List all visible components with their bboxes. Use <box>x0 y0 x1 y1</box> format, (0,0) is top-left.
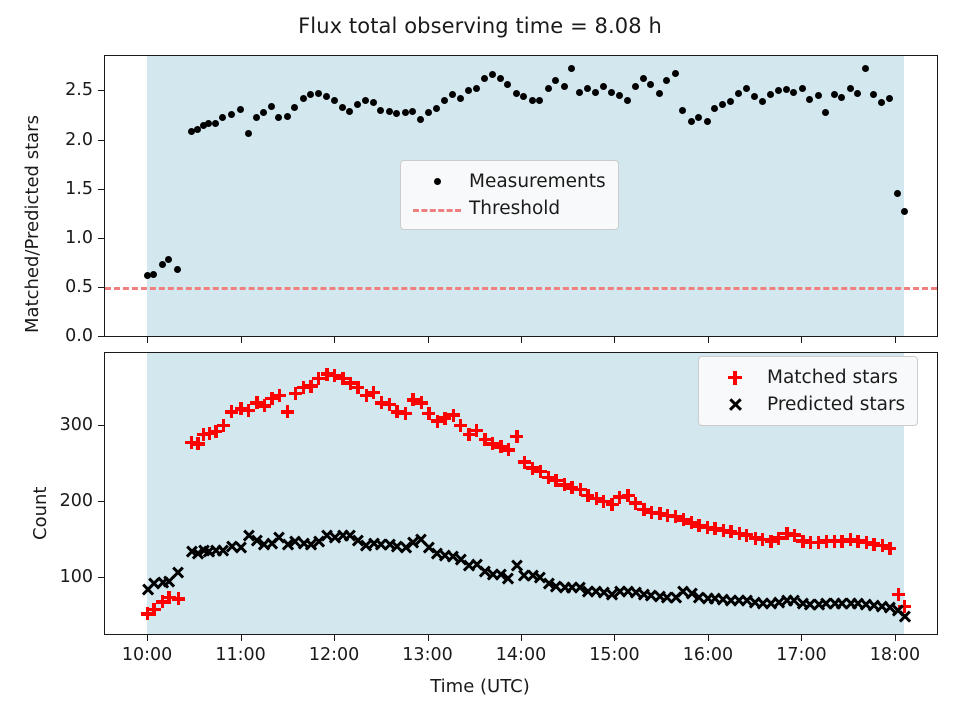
data-point <box>767 91 774 98</box>
data-point <box>362 97 369 104</box>
data-point <box>256 402 257 403</box>
data-point <box>178 598 179 599</box>
data-point <box>739 600 740 601</box>
data-point <box>775 87 782 94</box>
data-point <box>386 108 393 115</box>
data-point <box>656 90 663 97</box>
data-point <box>389 544 390 545</box>
y-tick-label: 300 <box>60 415 93 435</box>
data-point <box>159 261 166 268</box>
data-point <box>444 555 445 556</box>
top-y-axis-label: Matched/Predicted stars <box>22 115 43 333</box>
data-point <box>287 411 288 412</box>
data-point <box>476 430 477 431</box>
data-point <box>334 375 335 376</box>
data-point <box>699 525 700 526</box>
data-point <box>421 539 422 540</box>
data-point <box>898 594 899 595</box>
data-point <box>397 411 398 412</box>
data-point <box>381 544 382 545</box>
data-point <box>603 592 604 593</box>
data-point <box>802 604 803 605</box>
data-point <box>762 539 763 540</box>
data-point <box>873 544 874 545</box>
data-point <box>571 487 572 488</box>
data-point <box>762 603 763 604</box>
data-point <box>743 85 750 92</box>
data-point <box>366 395 367 396</box>
data-point <box>295 541 296 542</box>
data-point <box>866 604 867 605</box>
data-point <box>162 601 163 602</box>
data-point <box>628 495 629 496</box>
data-point <box>810 604 811 605</box>
data-point <box>532 576 533 577</box>
data-point <box>587 495 588 496</box>
data-point <box>556 480 557 481</box>
x-tick <box>241 336 242 343</box>
x-tick <box>614 634 615 641</box>
data-point <box>624 97 631 104</box>
data-point <box>548 583 549 584</box>
data-point <box>489 71 496 78</box>
data-point <box>532 468 533 469</box>
data-point <box>873 605 874 606</box>
x-tick-label: 14:00 <box>496 645 546 665</box>
legend-label: Predicted stars <box>761 394 905 415</box>
data-point <box>699 597 700 598</box>
x-tick-label: 16:00 <box>683 645 733 665</box>
data-point <box>818 604 819 605</box>
x-tick <box>801 634 802 641</box>
data-point <box>612 594 613 595</box>
data-point <box>492 574 493 575</box>
x-tick <box>521 336 522 343</box>
y-tick <box>98 140 105 141</box>
data-point <box>453 556 454 557</box>
data-point <box>730 531 731 532</box>
plus-marker-icon <box>709 368 761 388</box>
data-point <box>405 547 406 548</box>
data-point <box>318 541 319 542</box>
page-title: Flux total observing time = 8.08 h <box>0 14 960 38</box>
data-point <box>540 577 541 578</box>
data-point <box>421 402 422 403</box>
data-point <box>154 583 155 584</box>
data-point <box>751 93 758 100</box>
data-point <box>513 90 520 97</box>
data-point <box>778 602 779 603</box>
data-point <box>571 588 572 589</box>
data-point <box>667 597 668 598</box>
data-point <box>723 599 724 600</box>
data-point <box>643 509 644 510</box>
data-point <box>397 546 398 547</box>
x-tick <box>147 634 148 641</box>
data-point <box>516 436 517 437</box>
data-point <box>683 519 684 520</box>
data-point <box>373 543 374 544</box>
data-point <box>564 484 565 485</box>
data-point <box>651 512 652 513</box>
data-point <box>231 546 232 547</box>
data-point <box>667 515 668 516</box>
x-tick <box>895 634 896 641</box>
data-point <box>373 392 374 393</box>
data-point <box>672 70 679 77</box>
x-axis-label: Time (UTC) <box>0 676 960 697</box>
data-point <box>413 399 414 400</box>
y-tick-label: 2.5 <box>65 80 93 100</box>
data-point <box>215 550 216 551</box>
data-point <box>810 542 811 543</box>
data-point <box>508 578 509 579</box>
data-point <box>271 544 272 545</box>
data-point <box>203 550 204 551</box>
data-point <box>209 551 210 552</box>
data-point <box>771 604 772 605</box>
data-point <box>516 565 517 566</box>
x-tick-label: 10:00 <box>122 645 172 665</box>
data-point <box>596 498 597 499</box>
data-point <box>279 395 280 396</box>
data-point <box>437 421 438 422</box>
data-point <box>628 591 629 592</box>
data-point <box>469 566 470 567</box>
data-point <box>485 571 486 572</box>
data-point <box>759 98 766 105</box>
data-point <box>377 107 384 114</box>
data-point <box>786 600 787 601</box>
bottom-y-axis-label: Count <box>30 487 51 540</box>
data-point <box>508 449 509 450</box>
data-point <box>231 411 232 412</box>
data-point <box>815 92 822 99</box>
data-point <box>536 97 543 104</box>
data-point <box>389 404 390 405</box>
x-tick <box>708 634 709 641</box>
data-point <box>331 97 338 104</box>
data-point <box>323 93 330 100</box>
data-point <box>500 446 501 447</box>
data-point <box>476 564 477 565</box>
data-point <box>381 402 382 403</box>
y-tick <box>98 577 105 578</box>
data-point <box>223 425 224 426</box>
y-tick-label: 100 <box>60 567 93 587</box>
data-point <box>147 613 148 614</box>
data-point <box>596 591 597 592</box>
data-point <box>497 75 504 82</box>
data-point <box>315 90 322 97</box>
data-point <box>370 99 377 106</box>
data-point <box>659 596 660 597</box>
data-point <box>215 431 216 432</box>
data-point <box>858 604 859 605</box>
data-point <box>826 604 827 605</box>
y-tick-label: 200 <box>60 491 93 511</box>
data-point <box>154 609 155 610</box>
data-point <box>279 537 280 538</box>
data-point <box>635 592 636 593</box>
y-tick <box>98 238 105 239</box>
x-tick-label: 17:00 <box>776 645 826 665</box>
data-point <box>683 591 684 592</box>
bottom-legend: Matched stars Predicted stars <box>698 356 918 426</box>
dot-marker-icon <box>411 172 463 192</box>
data-point <box>271 398 272 399</box>
y-tick <box>98 90 105 91</box>
data-point <box>342 378 343 379</box>
data-point <box>643 595 644 596</box>
y-tick-label: 1.0 <box>65 228 93 248</box>
data-point <box>603 501 604 502</box>
data-point <box>679 107 686 114</box>
x-tick <box>147 336 148 343</box>
data-point <box>303 543 304 544</box>
data-point <box>465 87 472 94</box>
data-point <box>248 535 249 536</box>
data-point <box>711 105 718 112</box>
data-point <box>882 606 883 607</box>
legend-item-matched-stars: Matched stars <box>709 364 905 391</box>
data-point <box>223 550 224 551</box>
data-point <box>311 386 312 387</box>
data-point <box>169 597 170 598</box>
data-point <box>350 383 351 384</box>
data-point <box>524 575 525 576</box>
data-point <box>165 256 172 263</box>
data-point <box>433 105 440 112</box>
data-point <box>268 103 275 110</box>
figure-root: Flux total observing time = 8.08 h 0.00.… <box>0 0 960 720</box>
y-tick-label: 1.5 <box>65 179 93 199</box>
data-point <box>147 589 148 590</box>
data-point <box>640 75 647 82</box>
x-tick-label: 11:00 <box>215 645 265 665</box>
data-point <box>150 271 157 278</box>
data-point <box>354 101 361 108</box>
legend-label: Matched stars <box>761 367 898 388</box>
data-point <box>178 572 179 573</box>
data-point <box>357 387 358 388</box>
data-point <box>334 537 335 538</box>
data-point <box>854 90 861 97</box>
data-point <box>346 108 353 115</box>
data-point <box>540 471 541 472</box>
data-point <box>651 595 652 596</box>
data-point <box>771 541 772 542</box>
data-point <box>342 535 343 536</box>
data-point <box>248 410 249 411</box>
x-tick-label: 18:00 <box>870 645 920 665</box>
threshold-line <box>105 287 937 290</box>
y-tick <box>98 287 105 288</box>
data-point <box>870 91 877 98</box>
y-tick <box>98 189 105 190</box>
legend-label: Measurements <box>463 171 606 192</box>
x-tick <box>334 336 335 343</box>
data-point <box>826 541 827 542</box>
data-point <box>904 616 905 617</box>
y-tick <box>98 501 105 502</box>
data-point <box>564 587 565 588</box>
data-point <box>318 378 319 379</box>
data-point <box>858 541 859 542</box>
data-point <box>580 489 581 490</box>
data-point <box>632 83 639 90</box>
data-point <box>492 443 493 444</box>
data-point <box>898 610 899 611</box>
data-point <box>556 586 557 587</box>
x-tick <box>614 336 615 343</box>
data-point <box>162 582 163 583</box>
data-point <box>878 99 885 106</box>
data-point <box>473 85 480 92</box>
data-point <box>691 522 692 523</box>
data-point <box>245 130 252 137</box>
y-tick <box>98 336 105 337</box>
data-point <box>783 86 790 93</box>
data-point <box>688 118 695 125</box>
data-point <box>587 591 588 592</box>
data-point <box>366 545 367 546</box>
legend-item-threshold: Threshold <box>411 195 606 222</box>
legend-item-measurements: Measurements <box>411 168 606 195</box>
data-point <box>428 547 429 548</box>
data-point <box>612 504 613 505</box>
data-point <box>619 497 620 498</box>
x-tick <box>334 634 335 641</box>
data-point <box>584 85 591 92</box>
data-point <box>715 528 716 529</box>
data-point <box>746 535 747 536</box>
data-point <box>437 553 438 554</box>
data-point <box>357 541 358 542</box>
data-point <box>842 541 843 542</box>
data-point <box>453 415 454 416</box>
data-point <box>746 601 747 602</box>
data-point <box>886 95 893 102</box>
data-point <box>727 98 734 105</box>
data-point <box>831 91 838 98</box>
x-tick-label: 12:00 <box>309 645 359 665</box>
data-point <box>675 597 676 598</box>
data-point <box>889 607 890 608</box>
y-tick <box>98 425 105 426</box>
data-point <box>778 538 779 539</box>
legend-item-predicted-stars: Predicted stars <box>709 391 905 418</box>
data-point <box>704 118 711 125</box>
data-point <box>834 604 835 605</box>
data-point <box>191 551 192 552</box>
x-tick <box>521 634 522 641</box>
data-point <box>707 598 708 599</box>
cross-marker-icon <box>709 395 761 415</box>
x-tick-label: 15:00 <box>589 645 639 665</box>
data-point <box>616 92 623 99</box>
dashed-line-icon <box>411 199 463 219</box>
data-point <box>730 600 731 601</box>
data-point <box>529 97 536 104</box>
legend-label: Threshold <box>463 198 560 219</box>
top-legend: Measurements Threshold <box>400 160 619 230</box>
x-tick <box>241 634 242 641</box>
data-point <box>755 602 756 603</box>
data-point <box>889 548 890 549</box>
data-point <box>619 591 620 592</box>
data-point <box>850 603 851 604</box>
data-point <box>842 604 843 605</box>
data-point <box>460 425 461 426</box>
data-point <box>307 91 314 98</box>
data-point <box>405 413 406 414</box>
data-point <box>675 516 676 517</box>
data-point <box>198 443 199 444</box>
data-point <box>300 95 307 102</box>
data-point <box>485 439 486 440</box>
data-point <box>169 581 170 582</box>
data-point <box>469 434 470 435</box>
y-tick-label: 2.0 <box>65 130 93 150</box>
x-tick <box>801 336 802 343</box>
data-point <box>847 85 854 92</box>
data-point <box>794 601 795 602</box>
x-tick <box>428 634 429 641</box>
data-point <box>561 83 568 90</box>
x-tick <box>708 336 709 343</box>
data-point <box>441 97 448 104</box>
data-point <box>409 108 416 115</box>
data-point <box>428 413 429 414</box>
y-tick-label: 0.0 <box>65 326 93 346</box>
data-point <box>457 95 464 102</box>
data-point <box>715 598 716 599</box>
data-point <box>794 535 795 536</box>
data-point <box>600 83 607 90</box>
data-point <box>327 535 328 536</box>
data-point <box>460 559 461 560</box>
data-point <box>548 477 549 478</box>
data-point <box>264 544 265 545</box>
data-point <box>608 89 615 96</box>
data-point <box>901 208 908 215</box>
y-tick-label: 0.5 <box>65 277 93 297</box>
data-point <box>264 405 265 406</box>
data-point <box>635 503 636 504</box>
data-point <box>339 104 346 111</box>
data-point <box>799 85 806 92</box>
data-point <box>545 85 552 92</box>
data-point <box>444 418 445 419</box>
data-point <box>882 545 883 546</box>
data-point <box>295 393 296 394</box>
data-point <box>241 547 242 548</box>
data-point <box>838 94 845 101</box>
data-point <box>237 106 244 113</box>
x-tick <box>895 336 896 343</box>
data-point <box>524 462 525 463</box>
x-tick-label: 13:00 <box>402 645 452 665</box>
data-point <box>291 104 298 111</box>
x-tick <box>428 336 429 343</box>
